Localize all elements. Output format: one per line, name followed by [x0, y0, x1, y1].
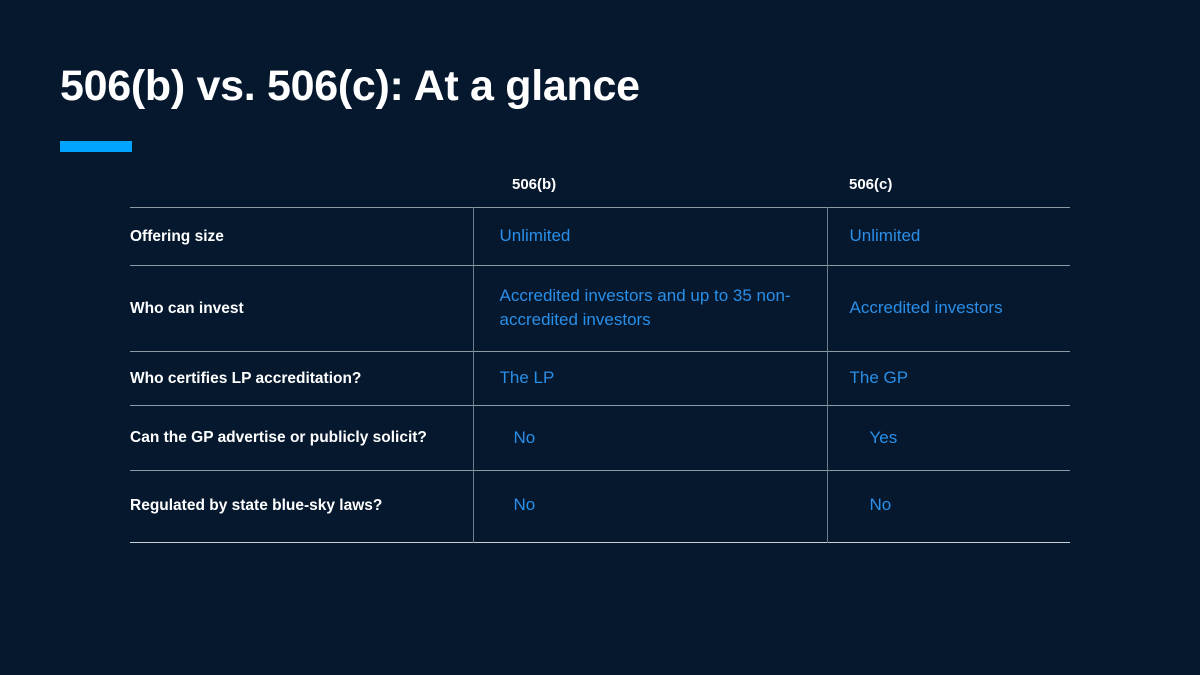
row-value-506b-who-can-invest: Accredited investors and up to 35 non-ac…	[473, 265, 827, 351]
row-value-506b-who-certifies: The LP	[473, 351, 827, 405]
row-value-506b-blue-sky-laws: No	[473, 471, 827, 543]
table-row: Offering size Unlimited Unlimited	[130, 208, 1070, 266]
row-value-506c-who-can-invest: Accredited investors	[827, 265, 1070, 351]
table-body: Offering size Unlimited Unlimited Who ca…	[130, 208, 1070, 543]
slide-root: 506(b) vs. 506(c): At a glance 506(b) 50…	[0, 0, 1200, 675]
page-title: 506(b) vs. 506(c): At a glance	[60, 62, 640, 111]
table-row: Can the GP advertise or publicly solicit…	[130, 405, 1070, 471]
column-header-label	[130, 176, 473, 208]
row-value-506c-offering-size: Unlimited	[827, 208, 1070, 266]
comparison-table: 506(b) 506(c) Offering size Unlimited Un…	[130, 176, 1070, 543]
row-value-506c-who-certifies: The GP	[827, 351, 1070, 405]
table-header-row: 506(b) 506(c)	[130, 176, 1070, 208]
column-header-506b: 506(b)	[473, 176, 827, 208]
title-accent-bar	[60, 141, 132, 152]
table-row: Who can invest Accredited investors and …	[130, 265, 1070, 351]
row-label-who-can-invest: Who can invest	[130, 265, 473, 351]
table-row: Regulated by state blue-sky laws? No No	[130, 471, 1070, 543]
row-value-506c-blue-sky-laws: No	[827, 471, 1070, 543]
row-value-506c-can-gp-advertise: Yes	[827, 405, 1070, 471]
row-label-who-certifies-lp-accreditation: Who certifies LP accreditation?	[130, 351, 473, 405]
row-label-blue-sky-laws: Regulated by state blue-sky laws?	[130, 471, 473, 543]
row-value-506b-can-gp-advertise: No	[473, 405, 827, 471]
row-label-offering-size: Offering size	[130, 208, 473, 266]
table-row: Who certifies LP accreditation? The LP T…	[130, 351, 1070, 405]
column-header-506c: 506(c)	[827, 176, 1070, 208]
row-label-can-gp-advertise: Can the GP advertise or publicly solicit…	[130, 405, 473, 471]
row-value-506b-offering-size: Unlimited	[473, 208, 827, 266]
table-header: 506(b) 506(c)	[130, 176, 1070, 208]
comparison-table-container: 506(b) 506(c) Offering size Unlimited Un…	[130, 176, 1070, 543]
